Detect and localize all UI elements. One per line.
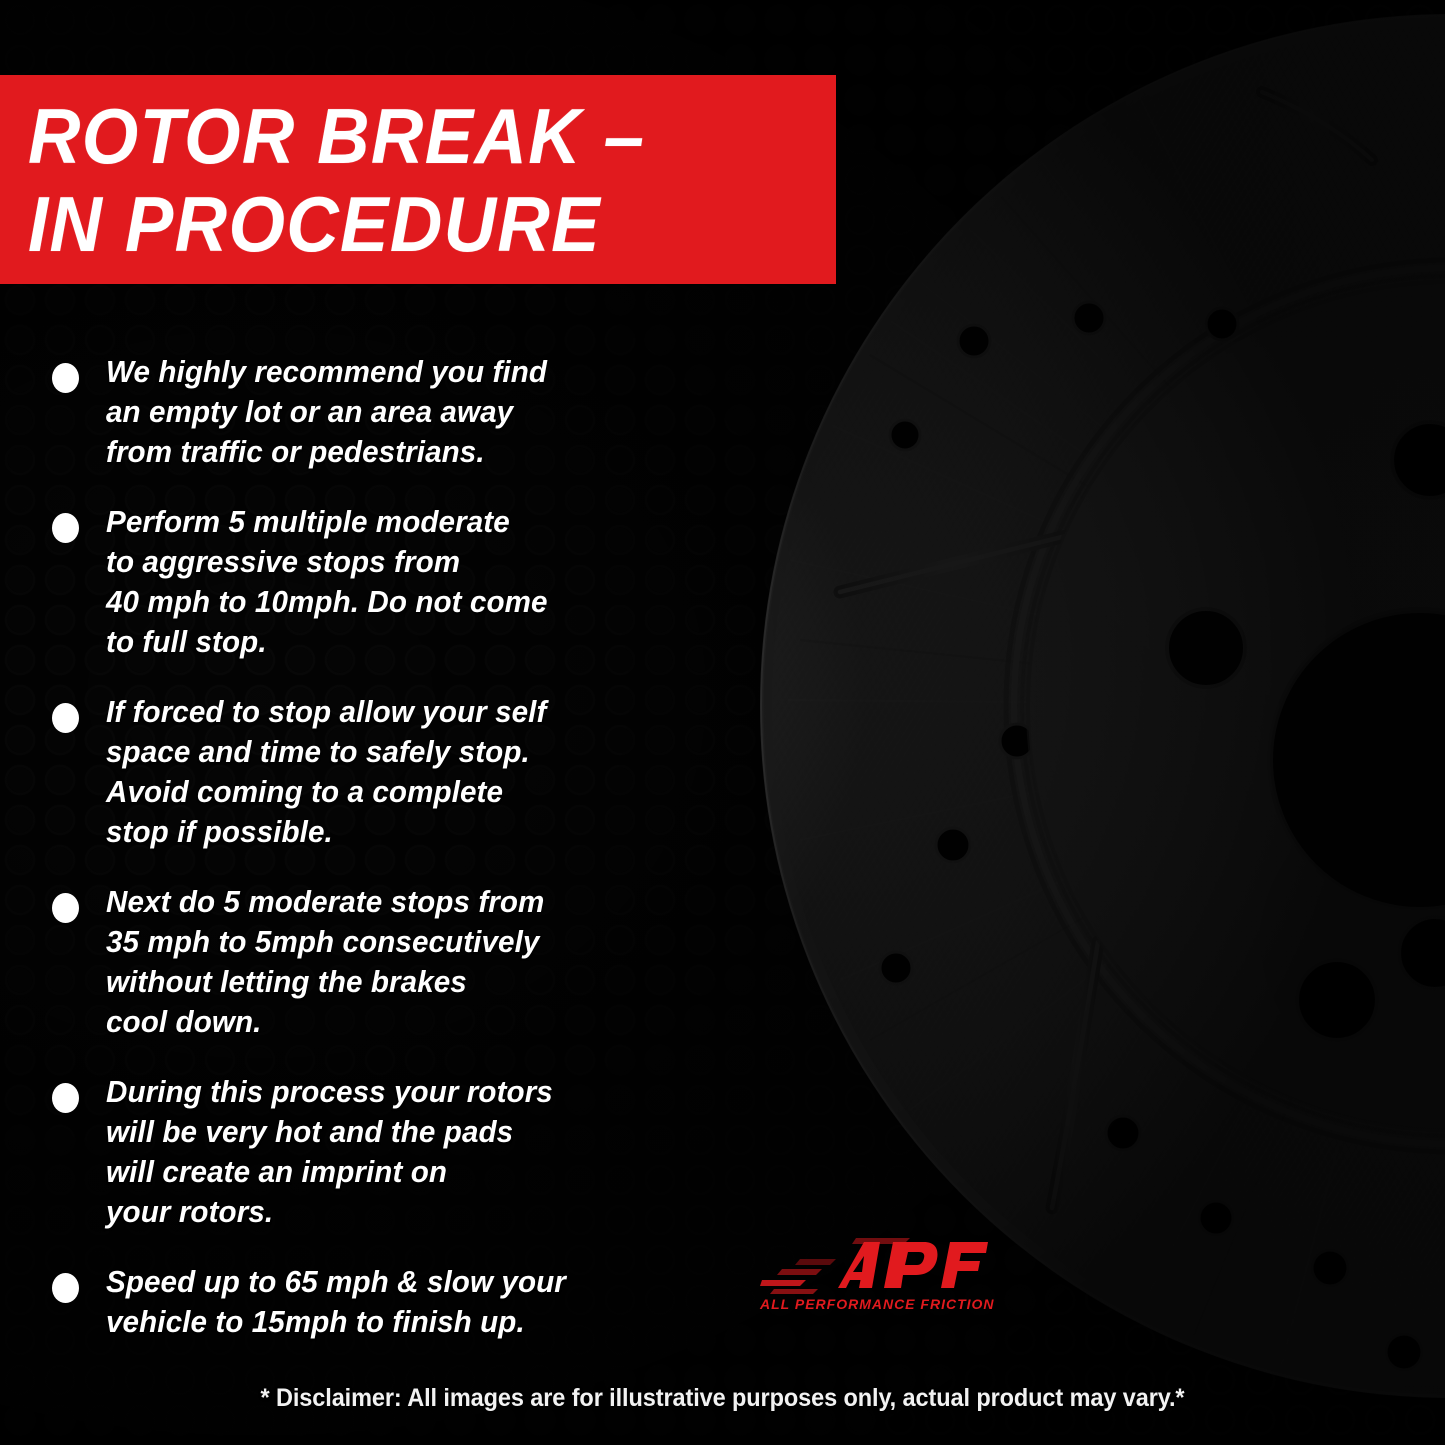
list-item: Next do 5 moderate stops from 35 mph to … (0, 882, 780, 1042)
list-item: Perform 5 multiple moderate to aggressiv… (0, 502, 780, 662)
list-item: If forced to stop allow your self space … (0, 692, 780, 852)
poster-root: ROTOR BREAK – IN PROCEDURE We highly rec… (0, 0, 1445, 1445)
list-item: We highly recommend you find an empty lo… (0, 352, 780, 472)
list-item-text: Next do 5 moderate stops from 35 mph to … (106, 882, 544, 1042)
page-title-line-2: IN PROCEDURE (28, 180, 779, 268)
procedure-steps-list: We highly recommend you find an empty lo… (0, 352, 780, 1372)
page-title-line-1: ROTOR BREAK – (28, 92, 779, 180)
apf-logo: ALL PERFORMANCE FRICTION (760, 1236, 990, 1336)
list-item-text: We highly recommend you find an empty lo… (106, 352, 547, 472)
apf-speed-logo-icon (760, 1236, 990, 1298)
list-item-text: During this process your rotors will be … (106, 1072, 553, 1232)
title-banner: ROTOR BREAK – IN PROCEDURE (0, 75, 836, 284)
bullet-dot-icon (52, 1273, 79, 1303)
list-item: During this process your rotors will be … (0, 1072, 780, 1232)
bullet-dot-icon (52, 1083, 79, 1113)
bullet-dot-icon (52, 363, 79, 393)
list-item-text: Speed up to 65 mph & slow your vehicle t… (106, 1262, 566, 1342)
list-item-text: If forced to stop allow your self space … (106, 692, 546, 852)
bullet-dot-icon (52, 703, 79, 733)
disclaimer-text: * Disclaimer: All images are for illustr… (43, 1384, 1401, 1413)
apf-logo-tagline: ALL PERFORMANCE FRICTION (760, 1296, 990, 1312)
bullet-dot-icon (52, 513, 79, 543)
bullet-dot-icon (52, 893, 79, 923)
list-item-text: Perform 5 multiple moderate to aggressiv… (106, 502, 548, 662)
list-item: Speed up to 65 mph & slow your vehicle t… (0, 1262, 780, 1342)
